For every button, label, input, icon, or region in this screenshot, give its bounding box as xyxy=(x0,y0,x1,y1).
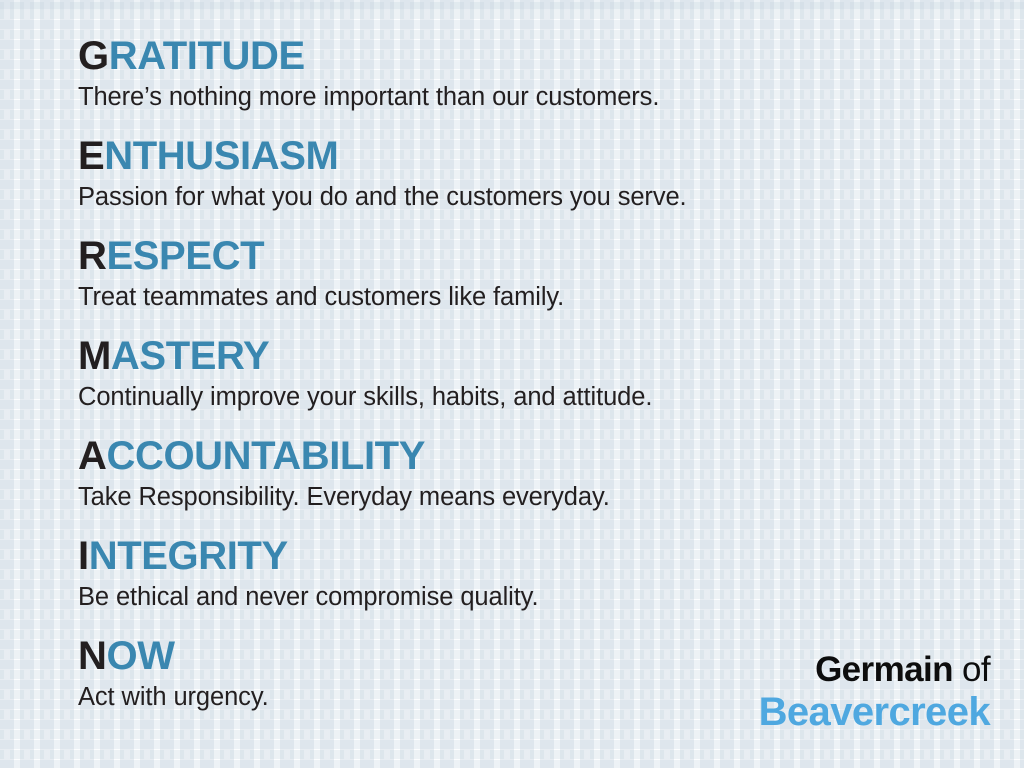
value-description-mastery: Continually improve your skills, habits,… xyxy=(78,380,978,414)
value-initial: A xyxy=(78,434,107,478)
value-heading-rest: OW xyxy=(107,634,175,678)
value-heading-enthusiasm: ENTHUSIASM xyxy=(78,134,978,178)
value-heading-integrity: INTEGRITY xyxy=(78,534,978,578)
logo-line-brand: Germain of xyxy=(759,650,990,690)
value-heading-rest: NTHUSIASM xyxy=(104,134,338,178)
value-initial: I xyxy=(78,534,89,578)
logo-connector: of xyxy=(953,650,990,689)
value-initial: N xyxy=(78,634,107,678)
logo-location-name: Beavercreek xyxy=(759,690,990,734)
value-description-gratitude: There’s nothing more important than our … xyxy=(78,80,978,114)
core-values-list: GRATITUDE There’s nothing more important… xyxy=(78,34,978,734)
value-block-respect: RESPECT Treat teammates and customers li… xyxy=(78,234,978,334)
value-heading-gratitude: GRATITUDE xyxy=(78,34,978,78)
value-heading-rest: NTEGRITY xyxy=(89,534,288,578)
value-block-gratitude: GRATITUDE There’s nothing more important… xyxy=(78,34,978,134)
value-block-integrity: INTEGRITY Be ethical and never compromis… xyxy=(78,534,978,634)
value-heading-rest: RATITUDE xyxy=(109,34,305,78)
value-initial: R xyxy=(78,234,107,278)
value-block-mastery: MASTERY Continually improve your skills,… xyxy=(78,334,978,434)
value-description-enthusiasm: Passion for what you do and the customer… xyxy=(78,180,978,214)
values-poster: GRATITUDE There’s nothing more important… xyxy=(0,0,1024,768)
value-heading-accountability: ACCOUNTABILITY xyxy=(78,434,978,478)
value-heading-respect: RESPECT xyxy=(78,234,978,278)
dealership-logo: Germain of Beavercreek xyxy=(759,650,990,734)
value-description-accountability: Take Responsibility. Everyday means ever… xyxy=(78,480,978,514)
value-block-enthusiasm: ENTHUSIASM Passion for what you do and t… xyxy=(78,134,978,234)
value-description-respect: Treat teammates and customers like famil… xyxy=(78,280,978,314)
logo-brand-name: Germain xyxy=(815,650,953,689)
value-heading-rest: ESPECT xyxy=(107,234,265,278)
value-heading-rest: CCOUNTABILITY xyxy=(107,434,425,478)
value-heading-rest: ASTERY xyxy=(111,334,269,378)
value-initial: M xyxy=(78,334,111,378)
value-heading-mastery: MASTERY xyxy=(78,334,978,378)
value-initial: E xyxy=(78,134,104,178)
value-description-integrity: Be ethical and never compromise quality. xyxy=(78,580,978,614)
value-initial: G xyxy=(78,34,109,78)
value-block-accountability: ACCOUNTABILITY Take Responsibility. Ever… xyxy=(78,434,978,534)
